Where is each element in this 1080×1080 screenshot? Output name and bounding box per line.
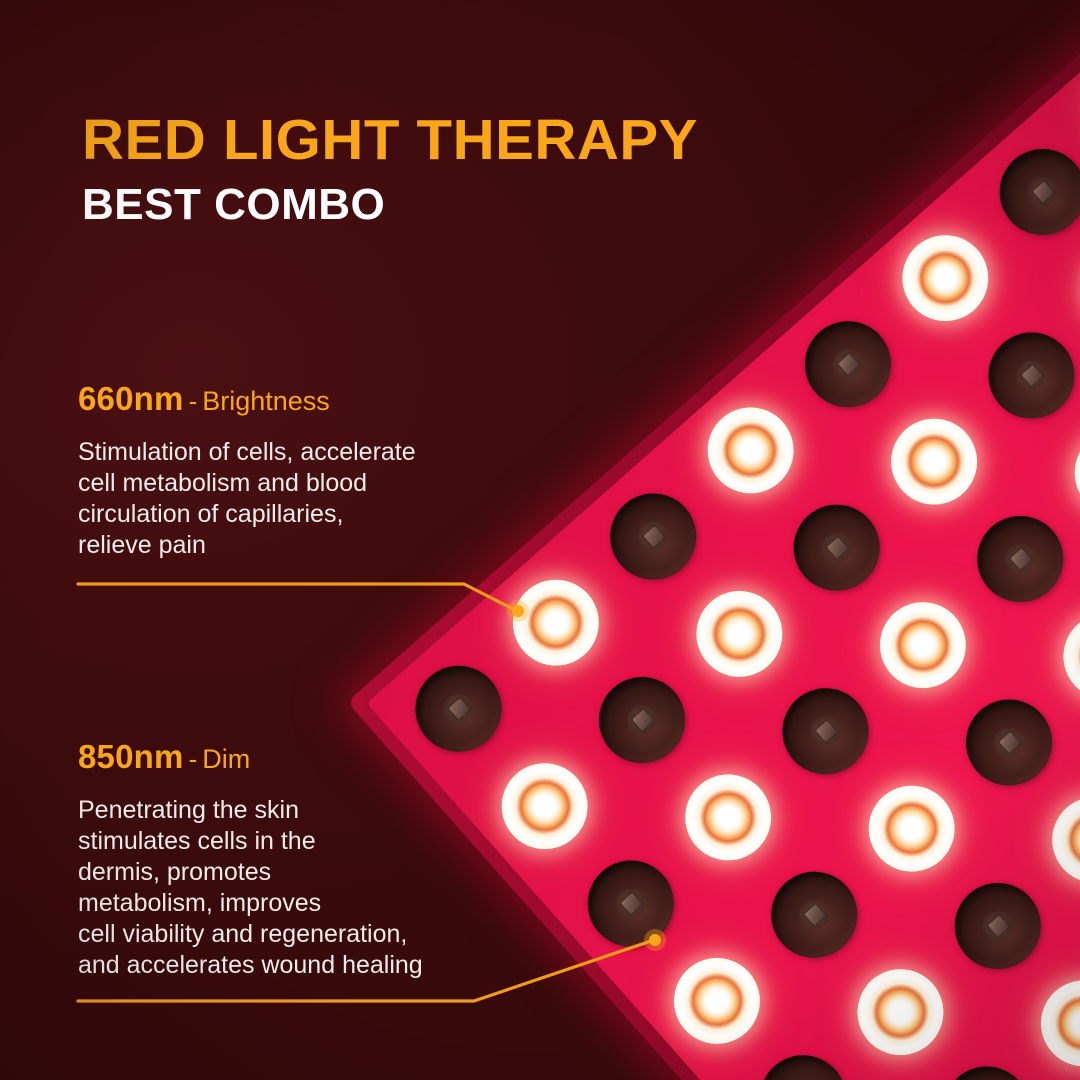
pointer-660 [78,584,529,622]
pointer-660-dot [512,605,524,617]
infographic-canvas: RED LIGHT THERAPY BEST COMBO 660nm-Brigh… [0,0,1080,1080]
pointer-850 [78,929,666,1001]
pointer-850-dot [649,934,661,946]
pointer-660-line [78,584,517,611]
pointer-850-line [78,940,654,1001]
pointer-layer [0,0,1080,1080]
